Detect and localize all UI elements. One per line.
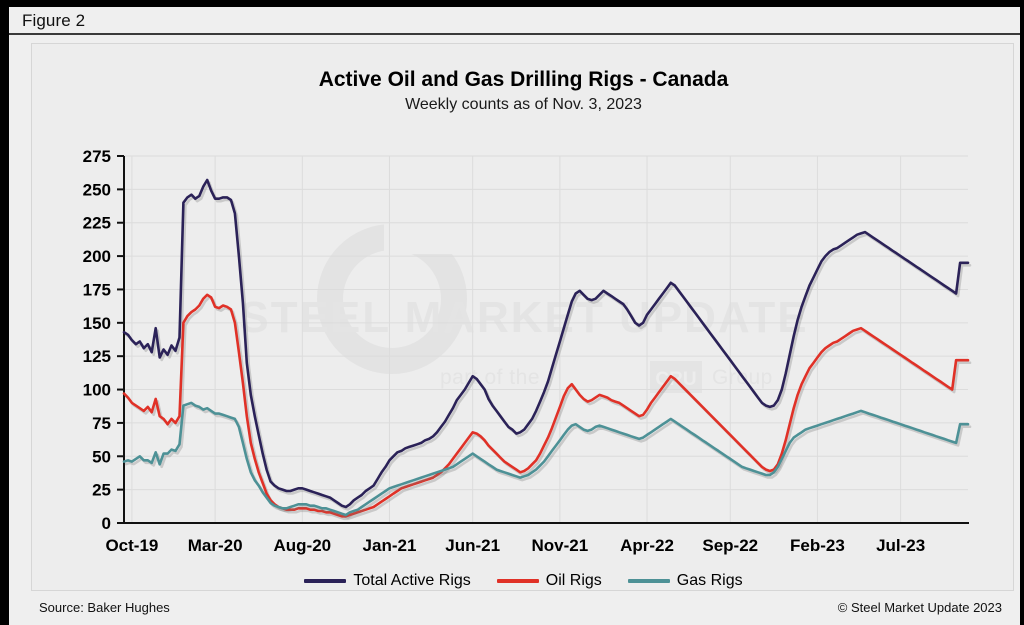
figure-header-bar: Figure 2 — [9, 7, 1020, 35]
watermark-line1: STEEL MARKET UPDATE — [239, 293, 808, 342]
chart-svg: STEEL MARKET UPDATE part of the CRU Grou… — [32, 44, 1015, 592]
legend-item-gas-rigs[interactable]: Gas Rigs — [628, 572, 743, 590]
x-axis-tick-label: Jan-21 — [363, 536, 417, 555]
x-axis-tick-label: Feb-23 — [790, 536, 845, 555]
y-axis-tick-label: 0 — [102, 514, 111, 533]
legend-label: Gas Rigs — [677, 572, 743, 590]
y-axis-tick-label: 25 — [92, 481, 111, 500]
legend-label: Total Active Rigs — [353, 572, 470, 590]
data-series — [124, 180, 970, 519]
legend-swatch-icon — [628, 579, 670, 583]
x-axis-tick-label: Sep-22 — [702, 536, 758, 555]
y-axis-tick-label: 250 — [83, 180, 111, 199]
y-axis-tick-label: 225 — [83, 214, 111, 233]
x-axis-tick-label: Mar-20 — [188, 536, 243, 555]
y-axis-tick-label: 275 — [83, 147, 111, 166]
x-axis-tick-label: Jul-23 — [876, 536, 925, 555]
figure-container: Figure 2 Active Oil and Gas Drilling Rig… — [0, 0, 1024, 618]
legend-item-total-active-rigs[interactable]: Total Active Rigs — [304, 572, 470, 590]
y-axis-tick-label: 125 — [83, 347, 111, 366]
x-axis-tick-label: Apr-22 — [620, 536, 674, 555]
plot-area: STEEL MARKET UPDATE part of the CRU Grou… — [32, 44, 1015, 592]
y-axis-tick-label: 50 — [92, 447, 111, 466]
footer-bar: Source: Baker Hughes © Steel Market Upda… — [9, 595, 1020, 625]
legend-item-oil-rigs[interactable]: Oil Rigs — [497, 572, 602, 590]
y-axis-tick-label: 200 — [83, 247, 111, 266]
y-axis-tick-label: 75 — [92, 414, 111, 433]
y-axis-labels: 0255075100125150175200225250275 — [83, 147, 111, 533]
y-axis-tick-label: 150 — [83, 314, 111, 333]
source-label: Source: Baker Hughes — [39, 600, 170, 615]
y-axis-tick-label: 175 — [83, 280, 111, 299]
legend-swatch-icon — [304, 579, 346, 583]
chart-legend: Total Active RigsOil RigsGas Rigs — [32, 572, 1015, 590]
x-axis-labels: Oct-19Mar-20Aug-20Jan-21Jun-21Nov-21Apr-… — [105, 536, 925, 555]
y-axis-tick-label: 100 — [83, 381, 111, 400]
watermark: STEEL MARKET UPDATE part of the CRU Grou… — [239, 220, 808, 393]
copyright-label: © Steel Market Update 2023 — [838, 600, 1002, 615]
x-axis-tick-label: Jun-21 — [445, 536, 500, 555]
chart-card: Active Oil and Gas Drilling Rigs - Canad… — [31, 43, 1014, 591]
figure-label: Figure 2 — [22, 11, 85, 31]
legend-swatch-icon — [497, 579, 539, 583]
series-shadow-gas-rigs — [126, 405, 970, 517]
watermark-line2-prefix: part of the — [440, 366, 540, 389]
x-axis-tick-label: Nov-21 — [532, 536, 589, 555]
x-axis-tick-label: Aug-20 — [273, 536, 331, 555]
x-axis-tick-label: Oct-19 — [105, 536, 158, 555]
legend-label: Oil Rigs — [546, 572, 602, 590]
